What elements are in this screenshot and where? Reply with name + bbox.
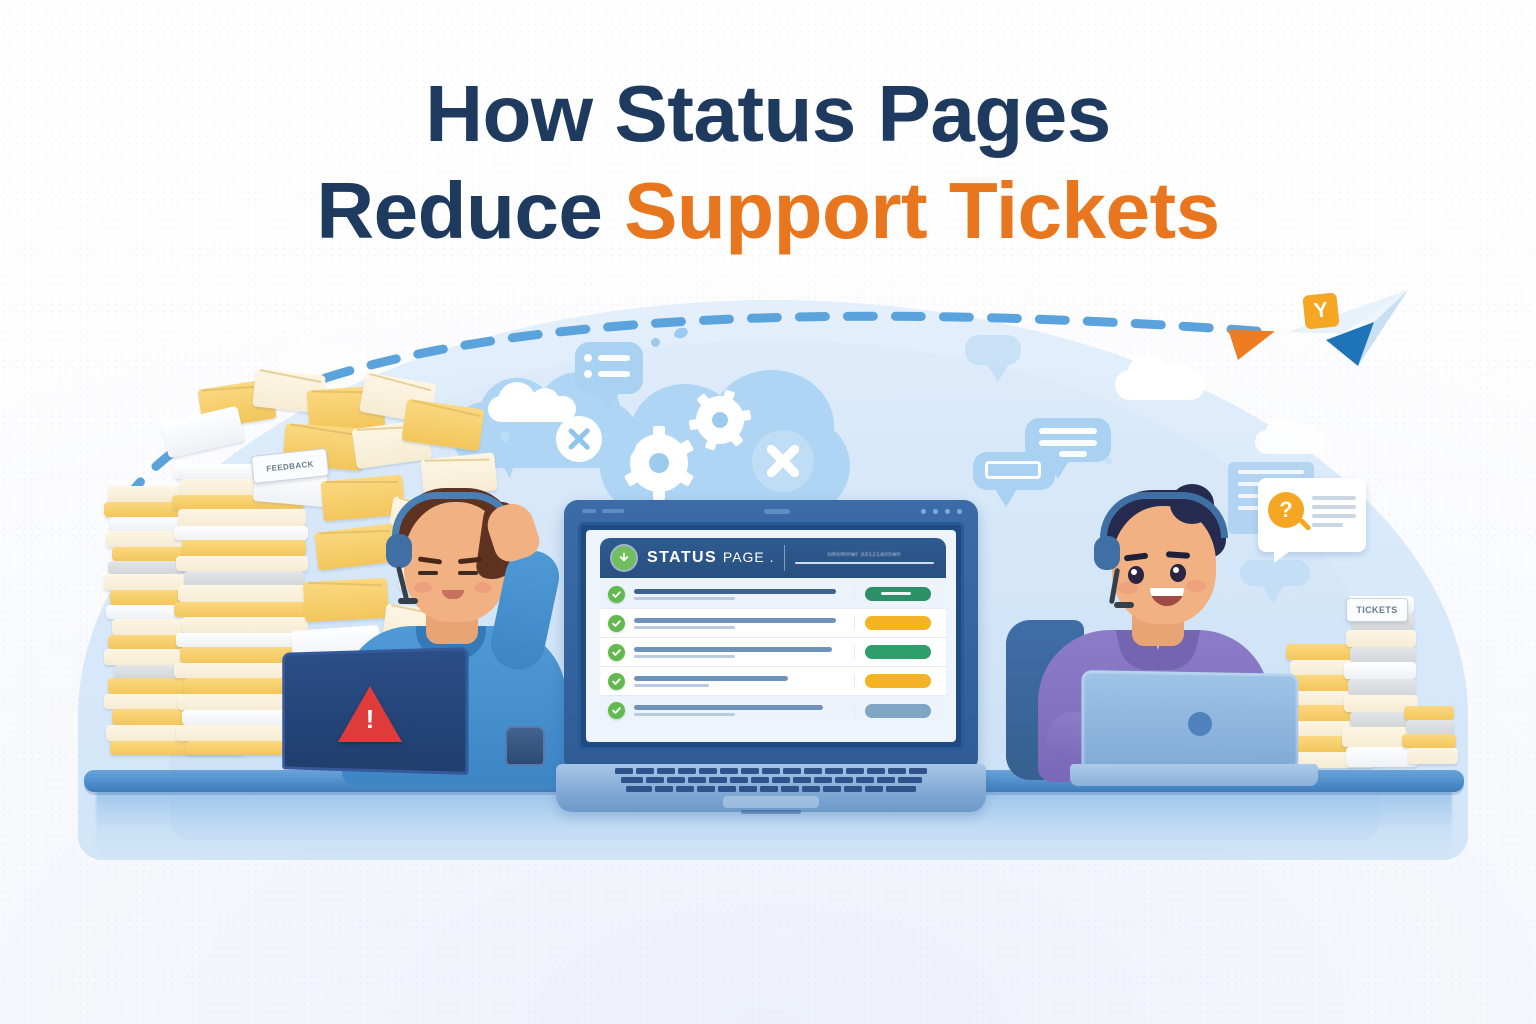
illustration-canvas: How Status Pages Reduce Support Tickets [0,0,1536,1024]
agent-eye-right [1170,564,1186,582]
magnifier-handle [1298,518,1311,531]
laptop-indicator-dots [921,509,962,514]
agent-eye-left [418,571,438,575]
headset-mic-tip [1114,602,1134,608]
laptop-camera [764,509,790,514]
table-row[interactable] [600,609,946,638]
warning-triangle-icon [338,686,402,742]
brand-sub: PAGE . [723,549,775,565]
header-divider [784,545,785,571]
row-text [634,705,854,716]
row-status [854,587,940,601]
title-line-2-highlight: Support Tickets [624,166,1220,255]
status-badge [865,704,931,718]
status-page-header: STATUS PAGE . smsmtrwr 33121a05wn [600,538,946,578]
row-status [854,674,940,688]
check-circle-icon [608,586,625,603]
check-circle-icon [608,644,625,661]
agent-cheek-left [1118,582,1138,594]
check-circle-icon [608,615,625,632]
row-status [854,616,940,630]
status-badge [865,674,931,688]
row-status [854,645,940,659]
title-line-1: How Status Pages [425,69,1111,158]
title-line-2-prefix: Reduce [316,166,624,255]
headset-cup-icon [386,534,412,568]
row-text [634,676,854,687]
table-row[interactable] [600,667,946,696]
status-page-brand: STATUS PAGE . [647,549,775,567]
headset-mic-tip [398,598,418,604]
paper-plane-icon: Y [1282,288,1412,374]
laptop-top-dashes [582,509,624,513]
page-title: How Status Pages Reduce Support Tickets [0,72,1536,252]
warning-laptop [276,650,466,772]
laptop-logo-icon [1188,712,1212,736]
status-page-screen[interactable]: STATUS PAGE . smsmtrwr 33121a05wn [586,530,956,742]
status-badge [865,616,931,630]
agent-cheek-left [414,582,432,593]
pile-label-right: TICKETS [1346,598,1408,622]
header-meta-text: smsmtrwr 33121a05wn [795,552,934,558]
agent-eye-right [458,571,478,575]
agent-cheek-right [474,582,492,593]
table-row[interactable] [600,696,946,725]
computer-mouse [505,726,545,766]
table-row[interactable] [600,638,946,667]
header-meta: smsmtrwr 33121a05wn [795,552,934,564]
card-text-lines [1312,496,1356,532]
row-text [634,589,854,600]
row-status [854,704,940,718]
status-badge [865,587,931,601]
brand-main: STATUS [647,549,717,566]
agent-cheek-right [1186,580,1206,592]
laptop-front-notch [741,810,801,814]
status-badge [865,645,931,659]
laptop-base [1070,764,1318,786]
laptop-keyboard[interactable] [584,768,958,794]
check-circle-icon [608,673,625,690]
row-text [634,618,854,629]
agent-laptop [1070,672,1318,784]
row-text [634,647,854,658]
header-meta-rule [795,562,934,564]
plane-badge: Y [1302,292,1339,329]
check-circle-icon [608,702,625,719]
laptop-trackpad[interactable] [723,796,819,808]
download-circle-icon [612,546,636,570]
headset-cup-icon [1094,536,1120,570]
status-page-laptop: STATUS PAGE . smsmtrwr 33121a05wn [556,500,986,830]
table-row[interactable] [600,580,946,609]
status-list [600,580,946,738]
